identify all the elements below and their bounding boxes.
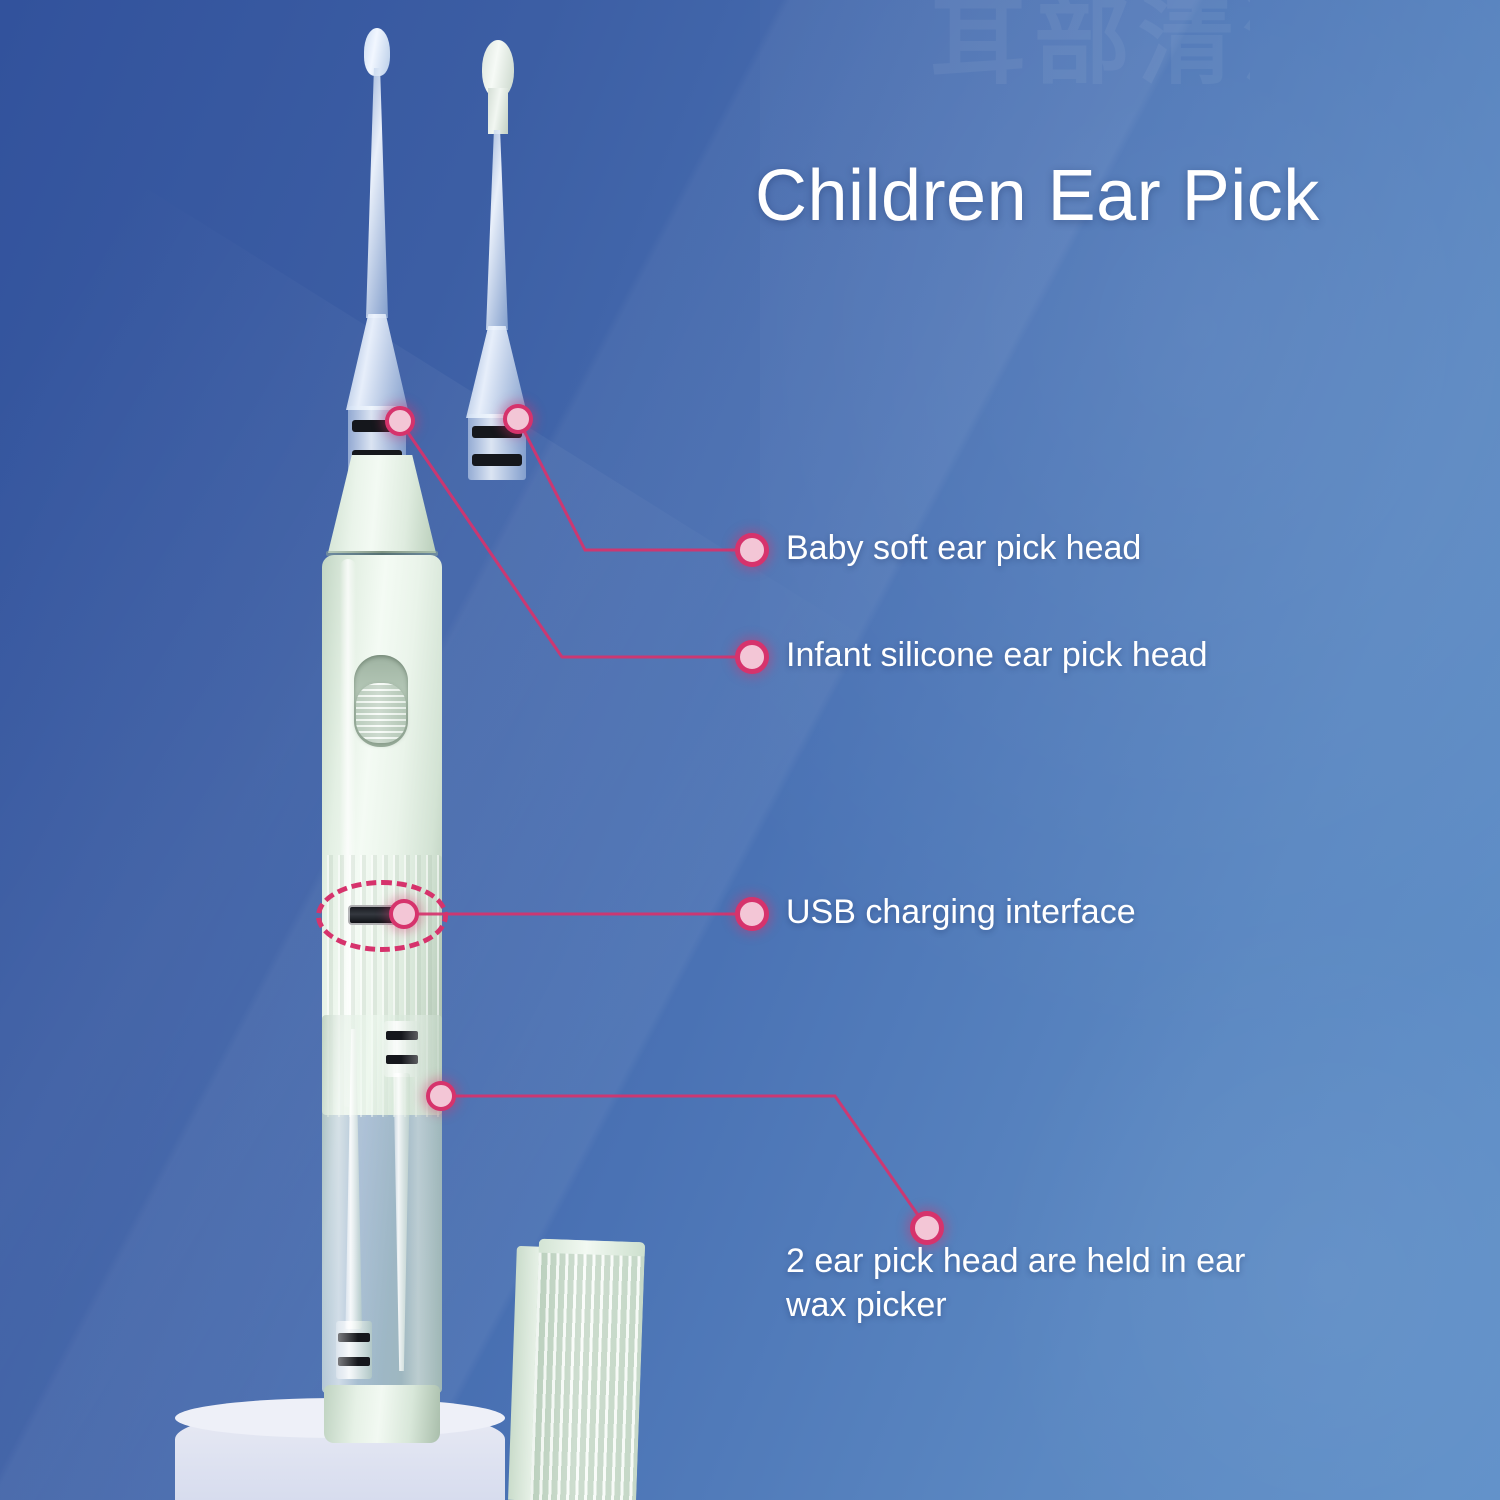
product-infographic: 耳部清洁 [0,0,1500,1500]
leader-line-baby-soft [518,419,752,550]
callout-label-baby-soft: Baby soft ear pick head [786,527,1141,571]
callout-dot-usb [735,897,769,931]
source-dot-usb [389,899,419,929]
source-dot-baby-soft [503,404,533,434]
callout-label-usb: USB charging interface [786,891,1136,935]
callout-label-storage-line1: 2 ear pick head are held in ear [786,1240,1346,1284]
callout-label-infant-silicone: Infant silicone ear pick head [786,634,1207,678]
source-dot-storage [426,1081,456,1111]
leader-line-infant-silicone [400,421,752,657]
callout-label-storage-line2: wax picker [786,1284,1346,1328]
callout-dot-baby-soft [735,533,769,567]
leader-line-storage [441,1096,927,1228]
page-title: Children Ear Pick [755,160,1320,232]
source-dot-infant-silicone [385,406,415,436]
callout-dot-infant-silicone [735,640,769,674]
callout-label-storage: 2 ear pick head are held in ear wax pick… [786,1240,1346,1327]
